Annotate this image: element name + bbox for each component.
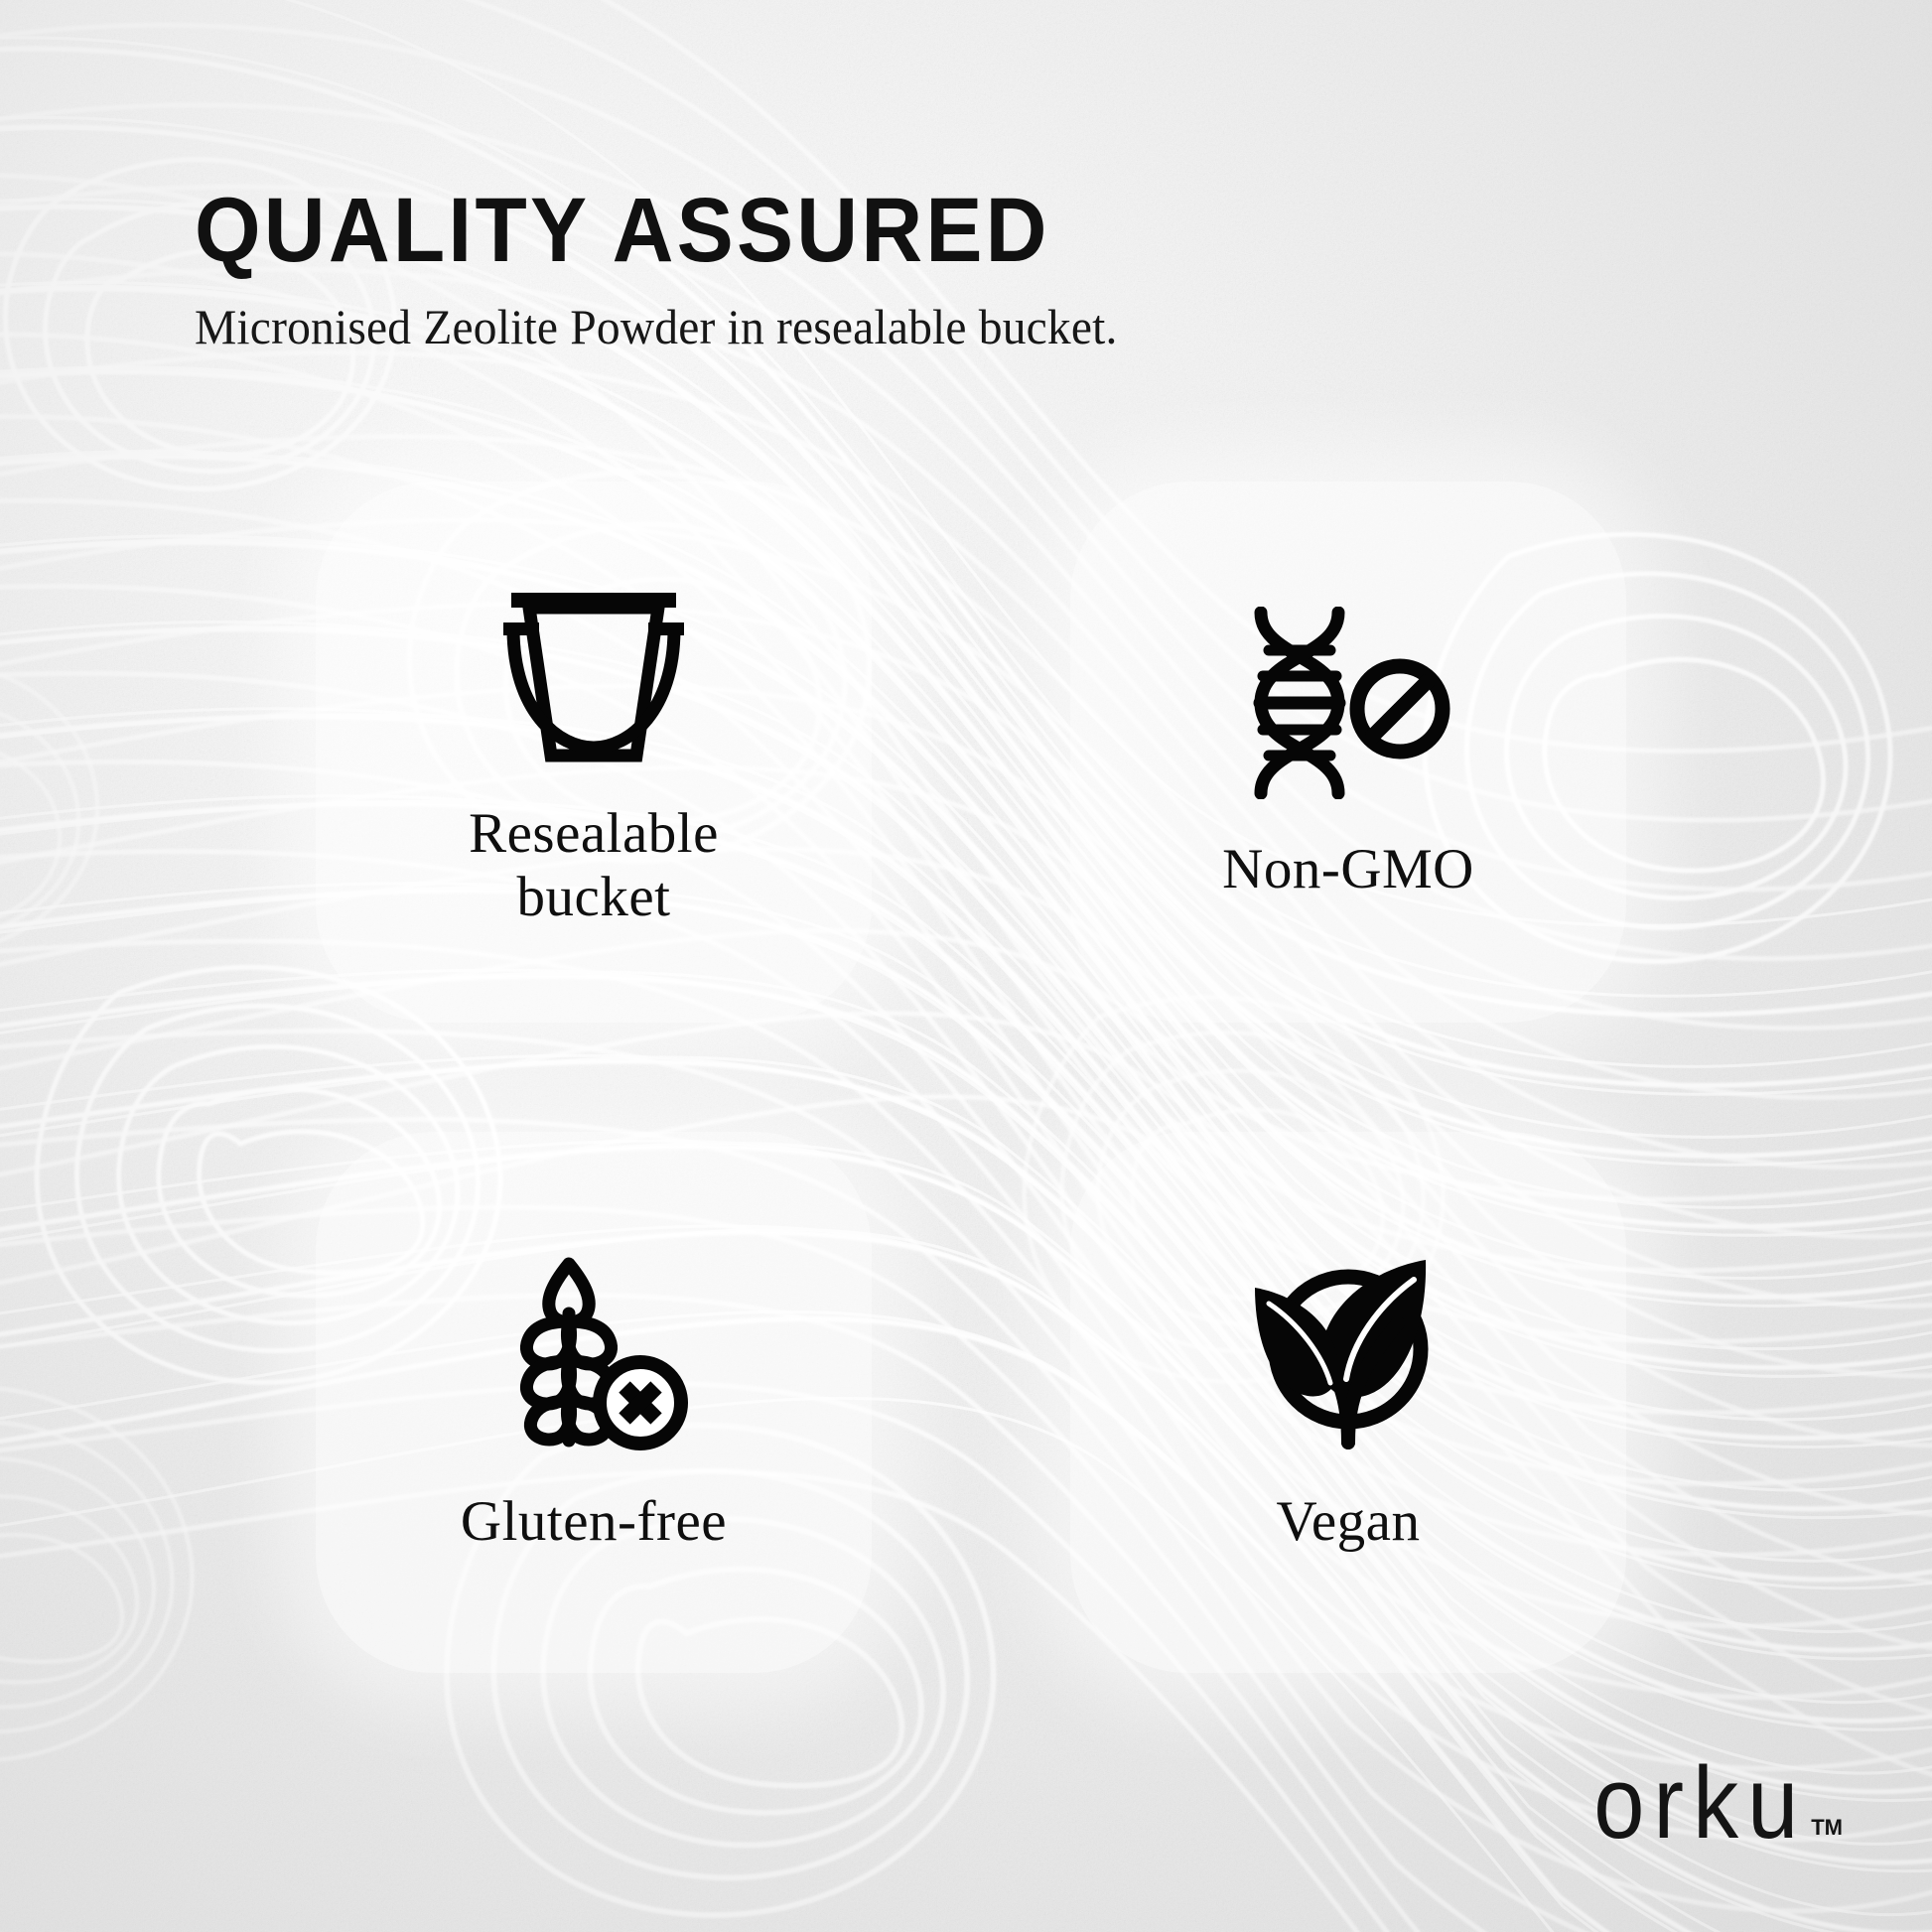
feature-card-vegan[interactable]: Vegan [1070, 1132, 1626, 1673]
feature-label: Vegan [1277, 1490, 1421, 1554]
poster-canvas: QUALITY ASSURED Micronised Zeolite Powde… [0, 0, 1932, 1932]
feature-label: Non-GMO [1222, 838, 1474, 901]
page-subtitle: Micronised Zeolite Powder in resealable … [195, 302, 1609, 351]
brand-logo[interactable]: orku TM [1593, 1763, 1843, 1855]
feature-card-resealable-bucket[interactable]: Resealable bucket [316, 482, 872, 1023]
feature-card-gluten-free[interactable]: Gluten-free [316, 1132, 872, 1673]
feature-card-non-gmo[interactable]: Non-GMO [1070, 482, 1626, 1023]
brand-wordmark: orku [1593, 1752, 1807, 1855]
feature-label: Resealable bucket [469, 802, 719, 929]
wheat-cross-icon [484, 1252, 703, 1450]
dna-no-gmo-icon [1239, 604, 1457, 802]
bucket-icon [484, 576, 703, 774]
feature-label: Gluten-free [461, 1490, 727, 1554]
header-block: QUALITY ASSURED Micronised Zeolite Powde… [195, 185, 1684, 351]
page-title: QUALITY ASSURED [195, 185, 1580, 276]
feature-grid: Resealable bucket [316, 482, 1626, 1673]
poster-content: QUALITY ASSURED Micronised Zeolite Powde… [0, 0, 1932, 1932]
leaf-circle-icon [1239, 1252, 1457, 1450]
trademark-symbol: TM [1811, 1815, 1843, 1841]
